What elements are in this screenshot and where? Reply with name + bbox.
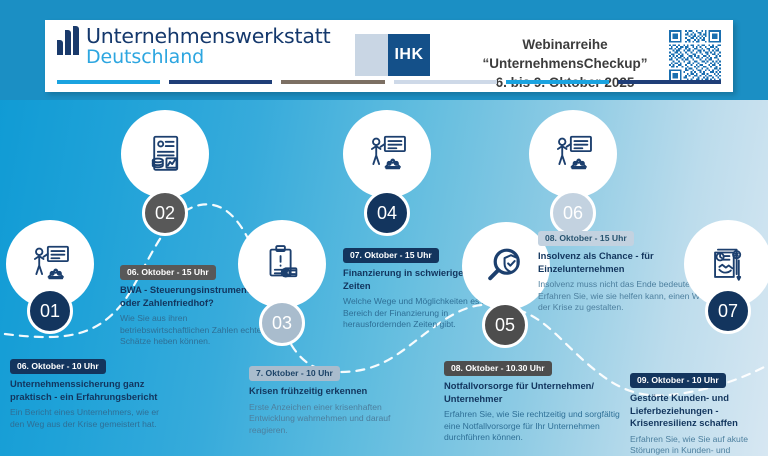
qr-code-icon[interactable] bbox=[669, 30, 721, 82]
event-title-05: Notfallvorsorge für Unternehmen/ Unterne… bbox=[444, 380, 624, 405]
node-number-07[interactable]: 07 bbox=[705, 288, 751, 334]
event-title-01: Unternehmenssicherung ganz praktisch - e… bbox=[10, 378, 175, 403]
event-card-05[interactable]: 08. Oktober - 10.30 Uhr Notfallvorsorge … bbox=[444, 358, 624, 444]
event-title-03: Krisen frühzeitig erkennen bbox=[249, 385, 424, 398]
infographic-poster: Unternehmenswerkstatt Deutschland IHK We… bbox=[0, 0, 768, 456]
title-line-1: Webinarreihe “UnternehmensCheckup” bbox=[440, 35, 690, 73]
event-card-03[interactable]: 7. Oktober - 10 Uhr Krisen frühzeitig er… bbox=[249, 363, 424, 436]
node-number-05[interactable]: 05 bbox=[482, 302, 528, 348]
event-badge-02: 06. Oktober - 15 Uhr bbox=[120, 265, 216, 280]
event-desc-03: Erste Anzeichen einer krisenhaften Entwi… bbox=[249, 402, 424, 437]
colorbar-segment-1 bbox=[57, 80, 160, 84]
event-badge-06: 08. Oktober - 15 Uhr bbox=[538, 231, 634, 246]
bars-logo-icon bbox=[57, 26, 79, 55]
report-finance-chart-icon[interactable] bbox=[123, 112, 207, 196]
event-desc-05: Erfahren Sie, wie Sie rechtzeitig und so… bbox=[444, 409, 624, 444]
magnifier-shield-icon[interactable] bbox=[464, 224, 548, 308]
presenter-audience-icon[interactable] bbox=[531, 112, 615, 196]
header-colorbar bbox=[57, 80, 721, 84]
ihk-logo[interactable]: IHK bbox=[355, 34, 430, 76]
node-number-01[interactable]: 01 bbox=[27, 288, 73, 334]
colorbar-segment-5 bbox=[506, 80, 609, 84]
logo-line-2: Deutschland bbox=[86, 48, 330, 67]
event-desc-04: Welche Wege und Möglichkeiten es im Bere… bbox=[343, 296, 498, 331]
presenter-audience-icon[interactable] bbox=[345, 112, 429, 196]
colorbar-segment-4 bbox=[394, 80, 497, 84]
event-card-01[interactable]: 06. Oktober - 10 Uhr Unternehmenssicheru… bbox=[10, 356, 175, 430]
colorbar-segment-2 bbox=[169, 80, 272, 84]
event-badge-04: 07. Oktober - 15 Uhr bbox=[343, 248, 439, 263]
ihk-label: IHK bbox=[388, 34, 430, 76]
colorbar-segment-6 bbox=[618, 80, 721, 84]
brand-logo[interactable]: Unternehmenswerkstatt Deutschland bbox=[57, 26, 330, 67]
event-desc-02: Wie Sie aus ihren betriebswirtschaftlich… bbox=[120, 313, 263, 348]
node-number-02[interactable]: 02 bbox=[142, 190, 188, 236]
event-badge-05: 08. Oktober - 10.30 Uhr bbox=[444, 361, 552, 376]
event-badge-03: 7. Oktober - 10 Uhr bbox=[249, 366, 340, 381]
node-number-03[interactable]: 03 bbox=[259, 300, 305, 346]
colorbar-segment-3 bbox=[281, 80, 384, 84]
header-card: Unternehmenswerkstatt Deutschland IHK We… bbox=[45, 20, 733, 92]
event-desc-07: Erfahren Sie, wie Sie auf akute Störunge… bbox=[630, 434, 768, 456]
clipboard-alert-money-icon[interactable] bbox=[240, 222, 324, 306]
node-number-04[interactable]: 04 bbox=[364, 190, 410, 236]
logo-line-1: Unternehmenswerkstatt bbox=[86, 26, 330, 47]
event-title-07: Gestörte Kunden- und Lieferbeziehungen -… bbox=[630, 392, 768, 430]
event-badge-07: 09. Oktober - 10 Uhr bbox=[630, 373, 726, 388]
event-desc-01: Ein Bericht eines Unternehmers, wie er d… bbox=[10, 407, 175, 430]
event-badge-01: 06. Oktober - 10 Uhr bbox=[10, 359, 106, 374]
event-card-07[interactable]: 09. Oktober - 10 Uhr Gestörte Kunden- un… bbox=[630, 370, 768, 456]
event-title-02: BWA - Steuerungsinstrument oder Zahlenfr… bbox=[120, 284, 263, 309]
